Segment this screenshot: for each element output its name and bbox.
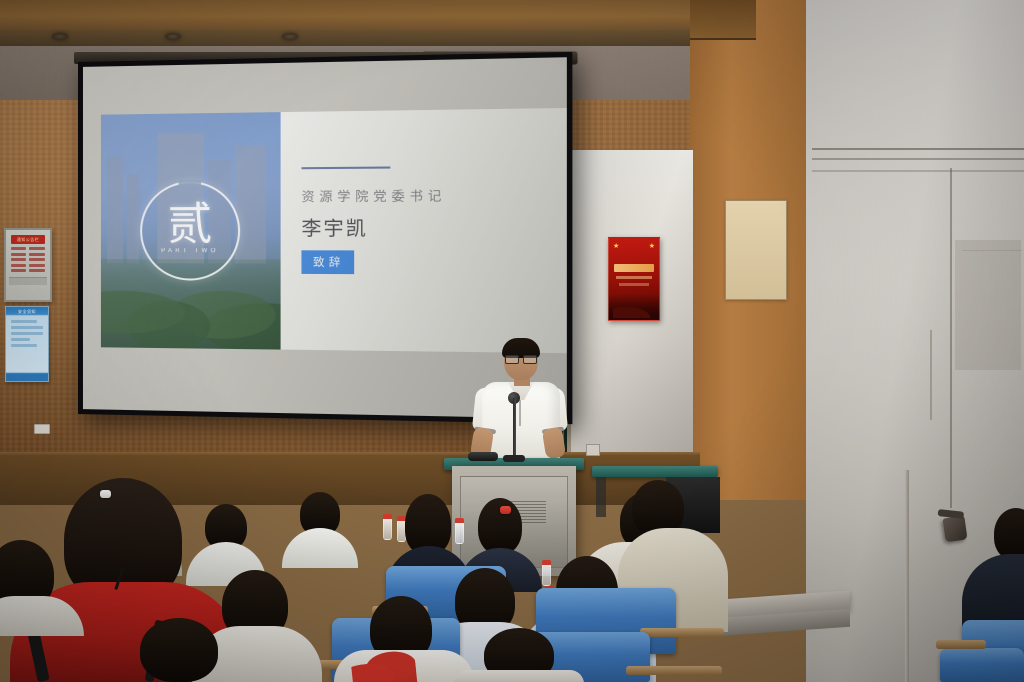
hair-clip-icon xyxy=(100,490,111,498)
wall-trim-line xyxy=(812,170,1024,172)
auditorium-seat[interactable] xyxy=(940,648,1024,682)
notice-board-header: 通知公告栏 xyxy=(11,235,45,244)
shirt-red-graphic xyxy=(350,649,418,682)
audience-shoulders xyxy=(962,554,1024,630)
poster-title-bar xyxy=(614,264,654,272)
wall-crack xyxy=(930,330,932,420)
skyline-building xyxy=(127,175,139,264)
slide-accent-rule xyxy=(301,166,390,169)
wall-outlet-icon xyxy=(586,444,600,456)
auditorium-scene: 通知公告栏 安全须知 ★ ★ xyxy=(0,0,1024,682)
notice-board-safety[interactable]: 安全须知 xyxy=(5,306,49,382)
star-icon: ★ xyxy=(613,243,619,250)
audience-shoulders xyxy=(454,670,584,682)
water-bottle xyxy=(383,518,392,540)
audience-shoulders xyxy=(282,528,358,568)
glasses-icon xyxy=(505,355,537,362)
audience-area xyxy=(0,470,1024,682)
poster-landscape-shape xyxy=(613,304,657,318)
skyline-building xyxy=(235,145,266,264)
bottle-cap-icon xyxy=(383,514,392,519)
slide-action-badge: 致辞 xyxy=(301,250,354,274)
downlight-icon xyxy=(52,33,68,40)
audience-head xyxy=(405,494,451,554)
wall-outlet-icon xyxy=(34,424,50,434)
seat-armrest xyxy=(640,628,724,637)
notice-blue-lines xyxy=(6,316,48,351)
microphone-stem xyxy=(513,398,516,460)
bottle-cap-icon xyxy=(455,518,464,523)
downlight-icon xyxy=(165,33,181,40)
notice-blue-header: 安全须知 xyxy=(6,307,48,316)
wall-seam xyxy=(950,168,952,508)
skyline-building xyxy=(107,156,123,263)
bottle-cap-icon xyxy=(542,560,551,565)
speaker-name: 李宇凯 xyxy=(301,213,566,242)
podium-desk-object xyxy=(468,452,498,461)
wall-trim-line xyxy=(812,158,1024,160)
water-bottle xyxy=(542,564,551,586)
speaker-role-title: 资源学院党委书记 xyxy=(301,184,566,205)
seat-armrest xyxy=(936,640,986,649)
slide-image-panel: 贰 PART TWO xyxy=(101,112,281,349)
star-icon: ★ xyxy=(649,243,655,250)
downlight-icon xyxy=(282,33,298,40)
section-number-badge: 贰 PART TWO xyxy=(140,181,240,281)
column-notice-paper xyxy=(725,200,787,300)
hair-clip-icon xyxy=(500,506,511,514)
wall-trim-line xyxy=(812,148,1024,150)
audience-head xyxy=(994,508,1024,560)
microphone-base xyxy=(503,455,525,462)
poster-subtitle-bar xyxy=(616,276,652,279)
presentation-slide: 贰 PART TWO 资源学院党委书记 李宇凯 致辞 xyxy=(101,108,567,354)
notice-board-rows xyxy=(9,247,47,272)
column-top-panel xyxy=(690,0,756,40)
seat-armrest xyxy=(626,666,722,675)
slide-text-panel: 资源学院党委书记 李宇凯 致辞 xyxy=(281,108,567,354)
red-wall-poster[interactable]: ★ ★ xyxy=(608,237,660,321)
section-number: 贰 xyxy=(167,204,212,246)
section-caption: PART TWO xyxy=(161,248,219,254)
water-bottle xyxy=(455,522,464,544)
audience-head xyxy=(140,618,218,682)
notice-board-announcements[interactable]: 通知公告栏 xyxy=(4,228,52,302)
notice-board-footer xyxy=(9,277,47,285)
wall-crack xyxy=(955,240,1021,370)
poster-subtitle-bar xyxy=(619,283,649,286)
